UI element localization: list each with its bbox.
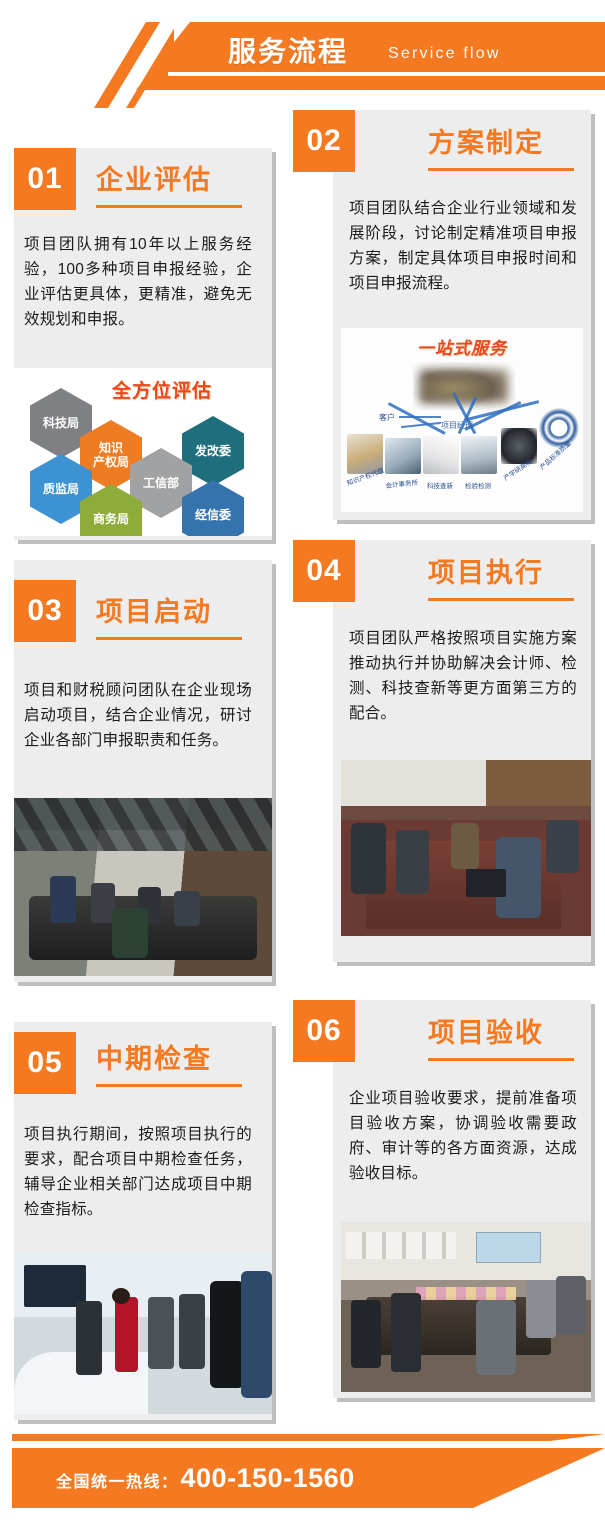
page-subtitle: Service flow — [388, 42, 501, 66]
card-02-title: 方案制定 — [428, 126, 544, 160]
card-03-title-rule — [96, 637, 242, 640]
one-stop-leaf-label-2: 会计事务所 — [385, 477, 418, 490]
card-02-title-rule — [428, 168, 574, 171]
one-stop-leaf-label-3: 科技查新 — [427, 480, 453, 490]
one-stop-title: 一站式服务 — [341, 334, 583, 359]
hex-node-label: 发改委 — [195, 444, 231, 458]
photo-person-red-coat — [115, 1297, 138, 1372]
card-04-title: 项目执行 — [428, 556, 544, 590]
one-stop-leaf-photo-3 — [423, 436, 459, 474]
page-footer: 全国统一热线： 400-150-1560 — [0, 1418, 605, 1538]
photo-person — [391, 1293, 421, 1371]
page-title: 服务流程 — [228, 33, 348, 71]
card-05-photo-site-visit — [14, 1252, 272, 1414]
photo-person — [148, 1297, 174, 1368]
photo-wall — [341, 760, 591, 806]
hex-chart-title: 全方位评估 — [112, 376, 212, 403]
card-06-photo-acceptance-meeting — [341, 1222, 591, 1392]
hex-node-label: 经信委 — [195, 508, 231, 522]
photo-person — [76, 1301, 102, 1376]
card-01-body: 项目团队拥有10年以上服务经验，100多种项目申报经验，企业评估更具体，更精准，… — [24, 232, 252, 332]
photo-ceiling-pattern — [14, 798, 272, 851]
card-04-photo-working-session — [341, 760, 591, 936]
card-03-title: 项目启动 — [96, 595, 212, 629]
hex-node-label: 科技局 — [43, 416, 79, 430]
footer-hotline: 全国统一热线： 400-150-1560 — [56, 1462, 355, 1499]
photo-laptop — [466, 869, 506, 897]
footer-hotline-number[interactable]: 400-150-1560 — [181, 1462, 355, 1494]
photo-table-items — [416, 1287, 516, 1301]
card-06-body: 企业项目验收要求，提前准备项目验收方案，协调验收需要政府、审计等的各方面资源，达… — [349, 1086, 577, 1186]
card-03-photo-meeting-room — [14, 798, 272, 976]
header-banner-lower-bar — [150, 76, 605, 88]
one-stop-center-photo — [413, 362, 515, 410]
card-05-title-rule — [96, 1084, 242, 1087]
hex-node-label: 工信部 — [143, 476, 179, 490]
photo-person — [476, 1300, 516, 1375]
card-02-body: 项目团队结合企业行业领域和发展阶段，讨论制定精准项目申报方案，制定具体项目申报时… — [349, 196, 577, 296]
footer-thin-stripe — [12, 1434, 605, 1441]
photo-person — [50, 876, 76, 922]
photo-certificates-wall — [346, 1232, 456, 1259]
card-04-body: 项目团队严格按照项目实施方案推动执行并协助解决会计师、检测、科技查新等更方面第三… — [349, 626, 577, 726]
photo-person — [179, 1294, 205, 1369]
card-03-body: 项目和财税顾问团队在企业现场启动项目，结合企业情况，研讨企业各部门申报职责和任务… — [24, 678, 252, 753]
card-01-number-badge: 01 — [14, 148, 76, 210]
photo-person — [451, 823, 479, 869]
photo-person — [210, 1281, 244, 1388]
one-stop-iso-seal — [539, 408, 579, 448]
photo-person — [396, 830, 429, 893]
one-stop-leaf-photo-4 — [461, 436, 497, 474]
hex-node-label: 质监局 — [43, 482, 79, 496]
photo-person — [351, 1300, 381, 1368]
photo-person — [174, 891, 200, 927]
photo-person-head — [112, 1288, 130, 1304]
infographic-page: 服务流程 Service flow 01 企业评估 项目团队拥有10年以上服务经… — [0, 0, 605, 1538]
card-03-number-badge: 03 — [14, 580, 76, 642]
photo-person — [546, 820, 579, 873]
photo-person — [526, 1280, 556, 1338]
card-01-title-rule — [96, 205, 242, 208]
card-06-title-rule — [428, 1058, 574, 1061]
photo-projector-screen — [476, 1232, 541, 1263]
card-05-number-badge: 05 — [14, 1032, 76, 1094]
one-stop-leaf-photo-2 — [385, 438, 421, 474]
card-05-title: 中期检查 — [96, 1042, 212, 1076]
one-stop-client-label: 客户 — [379, 412, 395, 423]
page-header: 服务流程 Service flow — [0, 0, 605, 108]
card-01-hexagon-chart: 全方位评估 科技局 知识 产权局 发改委 质监局 工信部 经信委 商务局 — [14, 368, 272, 536]
card-04-title-rule — [428, 598, 574, 601]
one-stop-leaf-photo-5 — [501, 428, 537, 464]
one-stop-leaf-label-4: 检验检测 — [465, 480, 491, 490]
card-05-body: 项目执行期间，按照项目执行的要求，配合项目中期检查任务，辅导企业相关部门达成项目… — [24, 1122, 252, 1222]
photo-person — [351, 823, 386, 893]
hex-node-label: 商务局 — [93, 512, 129, 526]
photo-person — [556, 1276, 586, 1334]
card-02-number-badge: 02 — [293, 110, 355, 172]
card-04-number-badge: 04 — [293, 540, 355, 602]
card-06-number-badge: 06 — [293, 1000, 355, 1062]
header-banner-white-line — [168, 72, 605, 76]
photo-person — [112, 908, 148, 958]
photo-person — [241, 1271, 272, 1397]
card-01-title: 企业评估 — [96, 163, 212, 197]
card-06-title: 项目验收 — [428, 1016, 544, 1050]
hex-node-label: 知识 产权局 — [93, 441, 129, 469]
footer-hotline-label: 全国统一热线： — [56, 1467, 179, 1499]
header-slash-decoration-outer — [94, 22, 160, 108]
card-02-one-stop-chart: 一站式服务 客户 项目经理 知识产权代理 会计事务所 科技查新 检验检测 产学研… — [341, 328, 583, 512]
